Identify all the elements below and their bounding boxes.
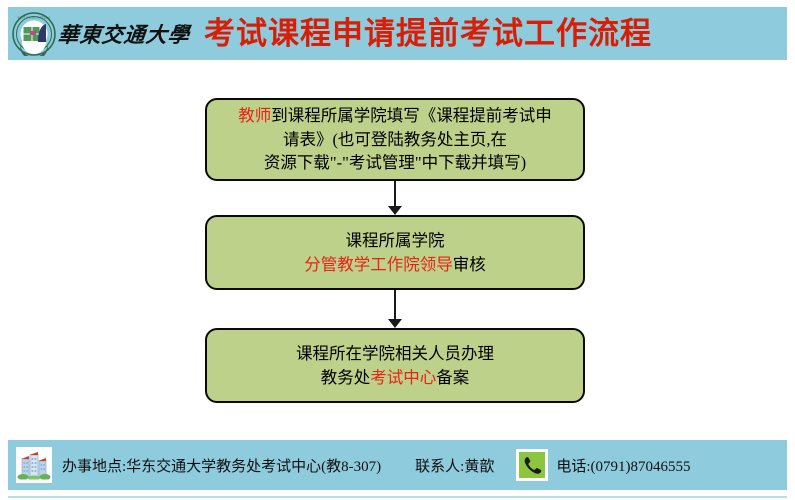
header-bar: 1971 EAST CHINA JIAOTONG 華東交通大學 考试课程申请提前… xyxy=(8,7,787,60)
flow-node-1-line-1: 教师到课程所属学院填写《课程提前考试申 xyxy=(238,104,552,127)
contact-label: 联系人:黄歆 xyxy=(415,455,494,476)
flow-node-3-highlight: 考试中心 xyxy=(370,368,436,387)
flowchart: 教师到课程所属学院填写《课程提前考试申 请表》(也可登陆教务处主页,在 资源下载… xyxy=(0,60,795,440)
connector-2-arrowhead-icon xyxy=(388,319,402,328)
slide-page: 1971 EAST CHINA JIAOTONG 華東交通大學 考试课程申请提前… xyxy=(0,0,795,500)
flow-node-1-line-3: 资源下载"-"考试管理"中下载并填写) xyxy=(264,151,526,174)
flow-node-2-line-2: 分管教学工作院领导审核 xyxy=(304,253,486,276)
connector-2-line xyxy=(394,290,396,320)
address-label: 办事地点:华东交通大学教务处考试中心(教8-307) xyxy=(62,455,381,476)
flow-node-2-line-1: 课程所属学院 xyxy=(346,229,445,252)
connector-1-arrowhead-icon xyxy=(388,206,402,215)
flow-node-1-text-a: 到课程所属学院填写《课程提前考试申 xyxy=(271,106,552,125)
phone-icon-badge xyxy=(519,452,545,478)
university-seal-icon: 1971 EAST CHINA JIAOTONG xyxy=(12,12,56,56)
svg-text:EAST CHINA JIAOTONG: EAST CHINA JIAOTONG xyxy=(18,15,51,19)
phone-label: 电话:(0791)87046555 xyxy=(556,455,690,476)
flow-node-3[interactable]: 课程所在学院相关人员办理 教务处考试中心备案 xyxy=(205,328,585,403)
flow-node-3-text-a: 教务处 xyxy=(321,368,371,387)
bottom-divider xyxy=(8,496,787,498)
flow-node-3-line-2: 教务处考试中心备案 xyxy=(321,366,470,389)
university-name: 華東交通大學 xyxy=(56,19,191,49)
page-title: 考试课程申请提前考试工作流程 xyxy=(204,18,652,49)
footer-bar: 办事地点:华东交通大学教务处考试中心(教8-307) 联系人:黄歆 电话:(07… xyxy=(8,440,787,490)
phone-icon[interactable] xyxy=(516,449,548,481)
flow-node-2[interactable]: 课程所属学院 分管教学工作院领导审核 xyxy=(205,215,585,290)
flow-node-3-line-1: 课程所在学院相关人员办理 xyxy=(296,342,494,365)
connector-1-line xyxy=(394,181,396,208)
flow-node-2-highlight: 分管教学工作院领导 xyxy=(304,255,453,274)
svg-text:1971: 1971 xyxy=(31,43,38,47)
flow-node-1[interactable]: 教师到课程所属学院填写《课程提前考试申 请表》(也可登陆教务处主页,在 资源下载… xyxy=(205,98,585,181)
flow-node-1-line-2: 请表》(也可登陆教务处主页,在 xyxy=(283,128,507,151)
flow-node-1-highlight: 教师 xyxy=(238,106,271,125)
flow-node-3-text-b: 备案 xyxy=(436,368,469,387)
building-icon xyxy=(16,447,52,483)
flow-node-2-text-a: 审核 xyxy=(453,255,486,274)
